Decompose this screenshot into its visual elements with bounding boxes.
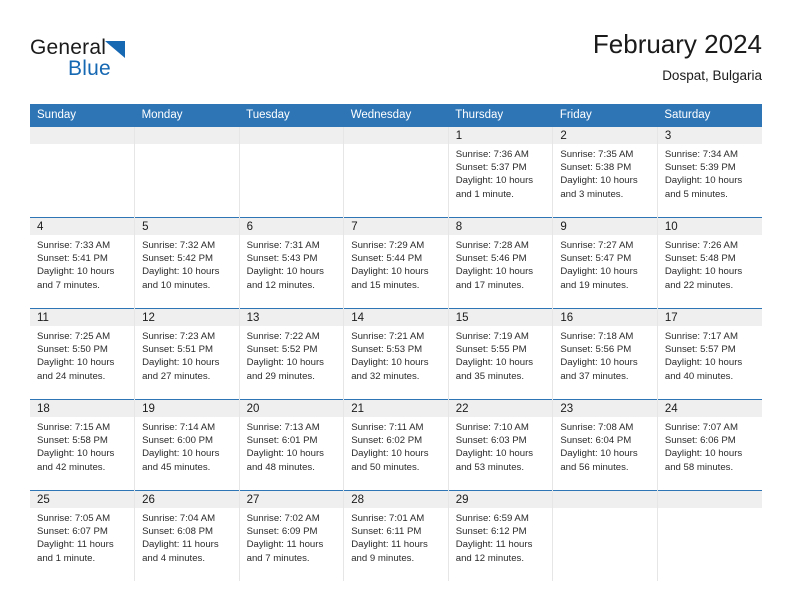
day-daylight-line: Daylight: 10 hours — [351, 356, 442, 369]
day-daylight-line: Daylight: 10 hours — [665, 356, 756, 369]
day-daylight-line: Daylight: 10 hours — [665, 447, 756, 460]
calendar-day-cell[interactable]: 28Sunrise: 7:01 AMSunset: 6:11 PMDayligh… — [344, 491, 449, 582]
title-block: February 2024 Dospat, Bulgaria — [593, 28, 762, 86]
day-daylight-line: and 17 minutes. — [456, 279, 547, 292]
day-daylight-line: Daylight: 10 hours — [560, 265, 651, 278]
weekday-header-row: Sunday Monday Tuesday Wednesday Thursday… — [30, 104, 762, 127]
day-daylight-line: and 24 minutes. — [37, 370, 128, 383]
calendar-day-cell[interactable]: 6Sunrise: 7:31 AMSunset: 5:43 PMDaylight… — [239, 218, 344, 309]
brand-triangle-icon — [105, 41, 125, 58]
calendar-day-cell[interactable]: 24Sunrise: 7:07 AMSunset: 6:06 PMDayligh… — [657, 400, 762, 491]
day-sunset-line: Sunset: 5:37 PM — [456, 161, 547, 174]
calendar-day-cell-empty — [135, 127, 240, 218]
day-sunset-line: Sunset: 5:50 PM — [37, 343, 128, 356]
day-details: Sunrise: 7:23 AMSunset: 5:51 PMDaylight:… — [135, 326, 239, 383]
day-sunrise-line: Sunrise: 7:21 AM — [351, 330, 442, 343]
day-details: Sunrise: 7:15 AMSunset: 5:58 PMDaylight:… — [30, 417, 134, 474]
day-daylight-line: and 53 minutes. — [456, 461, 547, 474]
day-sunset-line: Sunset: 5:46 PM — [456, 252, 547, 265]
day-sunset-line: Sunset: 6:00 PM — [142, 434, 233, 447]
day-sunrise-line: Sunrise: 7:15 AM — [37, 421, 128, 434]
day-sunset-line: Sunset: 5:47 PM — [560, 252, 651, 265]
day-sunrise-line: Sunrise: 7:08 AM — [560, 421, 651, 434]
day-number: 6 — [240, 218, 344, 235]
calendar-day-cell[interactable]: 27Sunrise: 7:02 AMSunset: 6:09 PMDayligh… — [239, 491, 344, 582]
weekday-header-friday: Friday — [553, 104, 658, 127]
day-sunset-line: Sunset: 5:43 PM — [247, 252, 338, 265]
day-daylight-line: and 7 minutes. — [37, 279, 128, 292]
day-daylight-line: Daylight: 10 hours — [351, 265, 442, 278]
day-number: 14 — [344, 309, 448, 326]
calendar-day-cell[interactable]: 23Sunrise: 7:08 AMSunset: 6:04 PMDayligh… — [553, 400, 658, 491]
day-daylight-line: and 12 minutes. — [456, 552, 547, 565]
day-daylight-line: and 22 minutes. — [665, 279, 756, 292]
day-number — [135, 127, 239, 144]
day-number: 21 — [344, 400, 448, 417]
day-number: 11 — [30, 309, 134, 326]
calendar-day-cell-empty — [657, 491, 762, 582]
calendar-day-cell[interactable]: 11Sunrise: 7:25 AMSunset: 5:50 PMDayligh… — [30, 309, 135, 400]
day-daylight-line: and 48 minutes. — [247, 461, 338, 474]
day-daylight-line: and 3 minutes. — [560, 188, 651, 201]
calendar-day-cell[interactable]: 21Sunrise: 7:11 AMSunset: 6:02 PMDayligh… — [344, 400, 449, 491]
day-sunset-line: Sunset: 6:12 PM — [456, 525, 547, 538]
calendar-day-cell[interactable]: 8Sunrise: 7:28 AMSunset: 5:46 PMDaylight… — [448, 218, 553, 309]
day-daylight-line: Daylight: 11 hours — [37, 538, 128, 551]
day-sunset-line: Sunset: 5:58 PM — [37, 434, 128, 447]
brand-logo-bottom: Blue — [68, 57, 250, 81]
weekday-header-monday: Monday — [135, 104, 240, 127]
day-details: Sunrise: 7:34 AMSunset: 5:39 PMDaylight:… — [658, 144, 762, 201]
day-details: Sunrise: 7:10 AMSunset: 6:03 PMDaylight:… — [449, 417, 553, 474]
day-daylight-line: Daylight: 10 hours — [37, 265, 128, 278]
day-daylight-line: and 50 minutes. — [351, 461, 442, 474]
calendar-day-cell-empty — [30, 127, 135, 218]
day-daylight-line: Daylight: 10 hours — [247, 356, 338, 369]
day-number: 3 — [658, 127, 762, 144]
day-sunset-line: Sunset: 6:06 PM — [665, 434, 756, 447]
page-title: February 2024 — [593, 28, 762, 60]
day-number: 29 — [449, 491, 553, 508]
day-number — [30, 127, 134, 144]
day-daylight-line: Daylight: 11 hours — [247, 538, 338, 551]
day-sunrise-line: Sunrise: 7:23 AM — [142, 330, 233, 343]
calendar-day-cell[interactable]: 13Sunrise: 7:22 AMSunset: 5:52 PMDayligh… — [239, 309, 344, 400]
day-sunrise-line: Sunrise: 7:26 AM — [665, 239, 756, 252]
day-daylight-line: and 32 minutes. — [351, 370, 442, 383]
weekday-header-wednesday: Wednesday — [344, 104, 449, 127]
day-daylight-line: and 15 minutes. — [351, 279, 442, 292]
calendar-day-cell[interactable]: 7Sunrise: 7:29 AMSunset: 5:44 PMDaylight… — [344, 218, 449, 309]
page-header: General Blue February 2024 Dospat, Bulga… — [30, 28, 762, 96]
day-daylight-line: and 42 minutes. — [37, 461, 128, 474]
day-sunrise-line: Sunrise: 6:59 AM — [456, 512, 547, 525]
day-number: 9 — [553, 218, 657, 235]
day-details: Sunrise: 7:08 AMSunset: 6:04 PMDaylight:… — [553, 417, 657, 474]
day-sunset-line: Sunset: 5:53 PM — [351, 343, 442, 356]
day-number: 28 — [344, 491, 448, 508]
day-daylight-line: Daylight: 10 hours — [247, 265, 338, 278]
calendar-week-row: 11Sunrise: 7:25 AMSunset: 5:50 PMDayligh… — [30, 309, 762, 400]
calendar-day-cell[interactable]: 15Sunrise: 7:19 AMSunset: 5:55 PMDayligh… — [448, 309, 553, 400]
day-details: Sunrise: 7:33 AMSunset: 5:41 PMDaylight:… — [30, 235, 134, 292]
day-number: 26 — [135, 491, 239, 508]
day-details: Sunrise: 7:19 AMSunset: 5:55 PMDaylight:… — [449, 326, 553, 383]
day-details: Sunrise: 7:02 AMSunset: 6:09 PMDaylight:… — [240, 508, 344, 565]
day-daylight-line: Daylight: 11 hours — [142, 538, 233, 551]
day-sunset-line: Sunset: 5:56 PM — [560, 343, 651, 356]
calendar-day-cell[interactable]: 22Sunrise: 7:10 AMSunset: 6:03 PMDayligh… — [448, 400, 553, 491]
day-details — [30, 144, 134, 148]
day-sunrise-line: Sunrise: 7:14 AM — [142, 421, 233, 434]
day-sunrise-line: Sunrise: 7:02 AM — [247, 512, 338, 525]
day-number: 2 — [553, 127, 657, 144]
day-daylight-line: Daylight: 10 hours — [247, 447, 338, 460]
day-daylight-line: and 12 minutes. — [247, 279, 338, 292]
day-daylight-line: and 37 minutes. — [560, 370, 651, 383]
day-daylight-line: Daylight: 11 hours — [456, 538, 547, 551]
day-details: Sunrise: 7:36 AMSunset: 5:37 PMDaylight:… — [449, 144, 553, 201]
calendar-day-cell-empty — [553, 491, 658, 582]
day-sunset-line: Sunset: 6:03 PM — [456, 434, 547, 447]
day-daylight-line: Daylight: 10 hours — [37, 356, 128, 369]
day-daylight-line: and 4 minutes. — [142, 552, 233, 565]
day-details: Sunrise: 7:27 AMSunset: 5:47 PMDaylight:… — [553, 235, 657, 292]
day-sunset-line: Sunset: 5:42 PM — [142, 252, 233, 265]
day-daylight-line: and 29 minutes. — [247, 370, 338, 383]
day-number: 4 — [30, 218, 134, 235]
day-daylight-line: Daylight: 10 hours — [37, 447, 128, 460]
brand-name-blue: Blue — [68, 57, 111, 80]
calendar-day-cell-empty — [239, 127, 344, 218]
day-number: 19 — [135, 400, 239, 417]
day-details: Sunrise: 7:22 AMSunset: 5:52 PMDaylight:… — [240, 326, 344, 383]
day-details: Sunrise: 7:21 AMSunset: 5:53 PMDaylight:… — [344, 326, 448, 383]
weekday-header-thursday: Thursday — [448, 104, 553, 127]
day-number — [344, 127, 448, 144]
day-details: Sunrise: 7:07 AMSunset: 6:06 PMDaylight:… — [658, 417, 762, 474]
day-sunset-line: Sunset: 5:57 PM — [665, 343, 756, 356]
day-sunrise-line: Sunrise: 7:10 AM — [456, 421, 547, 434]
day-details: Sunrise: 7:35 AMSunset: 5:38 PMDaylight:… — [553, 144, 657, 201]
day-number: 23 — [553, 400, 657, 417]
calendar-day-cell[interactable]: 25Sunrise: 7:05 AMSunset: 6:07 PMDayligh… — [30, 491, 135, 582]
day-daylight-line: Daylight: 10 hours — [142, 447, 233, 460]
day-sunrise-line: Sunrise: 7:25 AM — [37, 330, 128, 343]
day-daylight-line: and 56 minutes. — [560, 461, 651, 474]
day-sunrise-line: Sunrise: 7:28 AM — [456, 239, 547, 252]
day-daylight-line: Daylight: 10 hours — [456, 265, 547, 278]
calendar-grid: Sunday Monday Tuesday Wednesday Thursday… — [30, 104, 762, 581]
day-sunset-line: Sunset: 6:07 PM — [37, 525, 128, 538]
day-number: 22 — [449, 400, 553, 417]
calendar-day-cell[interactable]: 26Sunrise: 7:04 AMSunset: 6:08 PMDayligh… — [135, 491, 240, 582]
day-daylight-line: Daylight: 10 hours — [665, 174, 756, 187]
day-number: 1 — [449, 127, 553, 144]
day-number: 20 — [240, 400, 344, 417]
day-sunrise-line: Sunrise: 7:18 AM — [560, 330, 651, 343]
day-details — [240, 144, 344, 148]
day-sunset-line: Sunset: 6:09 PM — [247, 525, 338, 538]
day-sunrise-line: Sunrise: 7:35 AM — [560, 148, 651, 161]
day-daylight-line: Daylight: 10 hours — [560, 356, 651, 369]
calendar-day-cell[interactable]: 18Sunrise: 7:15 AMSunset: 5:58 PMDayligh… — [30, 400, 135, 491]
day-daylight-line: and 5 minutes. — [665, 188, 756, 201]
day-details: Sunrise: 7:14 AMSunset: 6:00 PMDaylight:… — [135, 417, 239, 474]
day-sunrise-line: Sunrise: 7:22 AM — [247, 330, 338, 343]
day-sunrise-line: Sunrise: 7:32 AM — [142, 239, 233, 252]
day-number: 7 — [344, 218, 448, 235]
brand-logo[interactable]: General Blue — [30, 36, 250, 92]
weekday-header-tuesday: Tuesday — [239, 104, 344, 127]
page-subtitle: Dospat, Bulgaria — [593, 66, 762, 86]
day-sunrise-line: Sunrise: 7:27 AM — [560, 239, 651, 252]
day-daylight-line: and 40 minutes. — [665, 370, 756, 383]
brand-logo-top: General — [30, 36, 250, 60]
day-daylight-line: and 9 minutes. — [351, 552, 442, 565]
day-daylight-line: Daylight: 10 hours — [456, 356, 547, 369]
day-number: 25 — [30, 491, 134, 508]
day-details: Sunrise: 7:04 AMSunset: 6:08 PMDaylight:… — [135, 508, 239, 565]
day-number — [240, 127, 344, 144]
calendar-day-cell[interactable]: 16Sunrise: 7:18 AMSunset: 5:56 PMDayligh… — [553, 309, 658, 400]
day-sunset-line: Sunset: 6:11 PM — [351, 525, 442, 538]
day-daylight-line: Daylight: 10 hours — [665, 265, 756, 278]
day-daylight-line: Daylight: 10 hours — [142, 265, 233, 278]
day-sunset-line: Sunset: 6:04 PM — [560, 434, 651, 447]
day-sunset-line: Sunset: 6:02 PM — [351, 434, 442, 447]
day-number: 24 — [658, 400, 762, 417]
day-details — [658, 508, 762, 512]
day-number: 8 — [449, 218, 553, 235]
day-daylight-line: Daylight: 10 hours — [142, 356, 233, 369]
day-daylight-line: Daylight: 10 hours — [560, 447, 651, 460]
day-daylight-line: Daylight: 10 hours — [456, 447, 547, 460]
weekday-header-sunday: Sunday — [30, 104, 135, 127]
day-daylight-line: and 45 minutes. — [142, 461, 233, 474]
day-number: 12 — [135, 309, 239, 326]
day-sunset-line: Sunset: 6:01 PM — [247, 434, 338, 447]
day-daylight-line: Daylight: 10 hours — [456, 174, 547, 187]
day-sunset-line: Sunset: 5:39 PM — [665, 161, 756, 174]
day-sunrise-line: Sunrise: 7:05 AM — [37, 512, 128, 525]
day-sunset-line: Sunset: 5:51 PM — [142, 343, 233, 356]
calendar-day-cell[interactable]: 14Sunrise: 7:21 AMSunset: 5:53 PMDayligh… — [344, 309, 449, 400]
day-daylight-line: Daylight: 10 hours — [351, 447, 442, 460]
day-daylight-line: and 19 minutes. — [560, 279, 651, 292]
calendar-day-cell[interactable]: 20Sunrise: 7:13 AMSunset: 6:01 PMDayligh… — [239, 400, 344, 491]
day-details: Sunrise: 7:18 AMSunset: 5:56 PMDaylight:… — [553, 326, 657, 383]
day-daylight-line: and 58 minutes. — [665, 461, 756, 474]
day-details: Sunrise: 7:32 AMSunset: 5:42 PMDaylight:… — [135, 235, 239, 292]
day-details: Sunrise: 6:59 AMSunset: 6:12 PMDaylight:… — [449, 508, 553, 565]
day-details: Sunrise: 7:11 AMSunset: 6:02 PMDaylight:… — [344, 417, 448, 474]
calendar-body: 1Sunrise: 7:36 AMSunset: 5:37 PMDaylight… — [30, 127, 762, 582]
day-daylight-line: and 1 minute. — [37, 552, 128, 565]
day-sunrise-line: Sunrise: 7:36 AM — [456, 148, 547, 161]
day-details: Sunrise: 7:01 AMSunset: 6:11 PMDaylight:… — [344, 508, 448, 565]
calendar-week-row: 18Sunrise: 7:15 AMSunset: 5:58 PMDayligh… — [30, 400, 762, 491]
day-sunset-line: Sunset: 5:38 PM — [560, 161, 651, 174]
day-sunset-line: Sunset: 5:55 PM — [456, 343, 547, 356]
day-daylight-line: Daylight: 11 hours — [351, 538, 442, 551]
calendar-day-cell[interactable]: 9Sunrise: 7:27 AMSunset: 5:47 PMDaylight… — [553, 218, 658, 309]
day-details: Sunrise: 7:25 AMSunset: 5:50 PMDaylight:… — [30, 326, 134, 383]
day-daylight-line: and 1 minute. — [456, 188, 547, 201]
calendar-page: General Blue February 2024 Dospat, Bulga… — [0, 0, 792, 612]
day-number: 17 — [658, 309, 762, 326]
day-sunrise-line: Sunrise: 7:17 AM — [665, 330, 756, 343]
day-sunset-line: Sunset: 5:41 PM — [37, 252, 128, 265]
day-sunset-line: Sunset: 5:44 PM — [351, 252, 442, 265]
day-sunrise-line: Sunrise: 7:01 AM — [351, 512, 442, 525]
day-daylight-line: and 10 minutes. — [142, 279, 233, 292]
day-number: 27 — [240, 491, 344, 508]
day-details: Sunrise: 7:28 AMSunset: 5:46 PMDaylight:… — [449, 235, 553, 292]
calendar-day-cell[interactable]: 5Sunrise: 7:32 AMSunset: 5:42 PMDaylight… — [135, 218, 240, 309]
day-sunrise-line: Sunrise: 7:31 AM — [247, 239, 338, 252]
calendar-day-cell[interactable]: 1Sunrise: 7:36 AMSunset: 5:37 PMDaylight… — [448, 127, 553, 218]
day-daylight-line: and 35 minutes. — [456, 370, 547, 383]
calendar-day-cell-empty — [344, 127, 449, 218]
day-details: Sunrise: 7:26 AMSunset: 5:48 PMDaylight:… — [658, 235, 762, 292]
day-sunrise-line: Sunrise: 7:19 AM — [456, 330, 547, 343]
brand-name-general: General — [30, 36, 106, 59]
calendar-day-cell[interactable]: 3Sunrise: 7:34 AMSunset: 5:39 PMDaylight… — [657, 127, 762, 218]
day-sunrise-line: Sunrise: 7:07 AM — [665, 421, 756, 434]
day-daylight-line: and 7 minutes. — [247, 552, 338, 565]
day-sunrise-line: Sunrise: 7:34 AM — [665, 148, 756, 161]
day-number: 5 — [135, 218, 239, 235]
day-number: 16 — [553, 309, 657, 326]
calendar-day-cell[interactable]: 4Sunrise: 7:33 AMSunset: 5:41 PMDaylight… — [30, 218, 135, 309]
day-number: 18 — [30, 400, 134, 417]
calendar-day-cell[interactable]: 10Sunrise: 7:26 AMSunset: 5:48 PMDayligh… — [657, 218, 762, 309]
calendar-week-row: 1Sunrise: 7:36 AMSunset: 5:37 PMDaylight… — [30, 127, 762, 218]
day-number: 15 — [449, 309, 553, 326]
weekday-header-saturday: Saturday — [657, 104, 762, 127]
calendar-day-cell[interactable]: 2Sunrise: 7:35 AMSunset: 5:38 PMDaylight… — [553, 127, 658, 218]
day-details: Sunrise: 7:31 AMSunset: 5:43 PMDaylight:… — [240, 235, 344, 292]
day-details — [135, 144, 239, 148]
day-sunrise-line: Sunrise: 7:33 AM — [37, 239, 128, 252]
day-details: Sunrise: 7:17 AMSunset: 5:57 PMDaylight:… — [658, 326, 762, 383]
calendar-day-cell[interactable]: 29Sunrise: 6:59 AMSunset: 6:12 PMDayligh… — [448, 491, 553, 582]
calendar-day-cell[interactable]: 19Sunrise: 7:14 AMSunset: 6:00 PMDayligh… — [135, 400, 240, 491]
day-daylight-line: and 27 minutes. — [142, 370, 233, 383]
day-details: Sunrise: 7:29 AMSunset: 5:44 PMDaylight:… — [344, 235, 448, 292]
day-details: Sunrise: 7:13 AMSunset: 6:01 PMDaylight:… — [240, 417, 344, 474]
calendar-week-row: 4Sunrise: 7:33 AMSunset: 5:41 PMDaylight… — [30, 218, 762, 309]
day-sunset-line: Sunset: 5:52 PM — [247, 343, 338, 356]
day-daylight-line: Daylight: 10 hours — [560, 174, 651, 187]
day-details — [344, 144, 448, 148]
day-sunset-line: Sunset: 6:08 PM — [142, 525, 233, 538]
day-details — [553, 508, 657, 512]
day-number — [658, 491, 762, 508]
day-sunrise-line: Sunrise: 7:11 AM — [351, 421, 442, 434]
day-number: 13 — [240, 309, 344, 326]
day-details: Sunrise: 7:05 AMSunset: 6:07 PMDaylight:… — [30, 508, 134, 565]
day-sunrise-line: Sunrise: 7:13 AM — [247, 421, 338, 434]
day-number: 10 — [658, 218, 762, 235]
day-sunrise-line: Sunrise: 7:29 AM — [351, 239, 442, 252]
day-number — [553, 491, 657, 508]
calendar-day-cell[interactable]: 12Sunrise: 7:23 AMSunset: 5:51 PMDayligh… — [135, 309, 240, 400]
calendar-week-row: 25Sunrise: 7:05 AMSunset: 6:07 PMDayligh… — [30, 491, 762, 582]
calendar-day-cell[interactable]: 17Sunrise: 7:17 AMSunset: 5:57 PMDayligh… — [657, 309, 762, 400]
day-sunset-line: Sunset: 5:48 PM — [665, 252, 756, 265]
day-sunrise-line: Sunrise: 7:04 AM — [142, 512, 233, 525]
